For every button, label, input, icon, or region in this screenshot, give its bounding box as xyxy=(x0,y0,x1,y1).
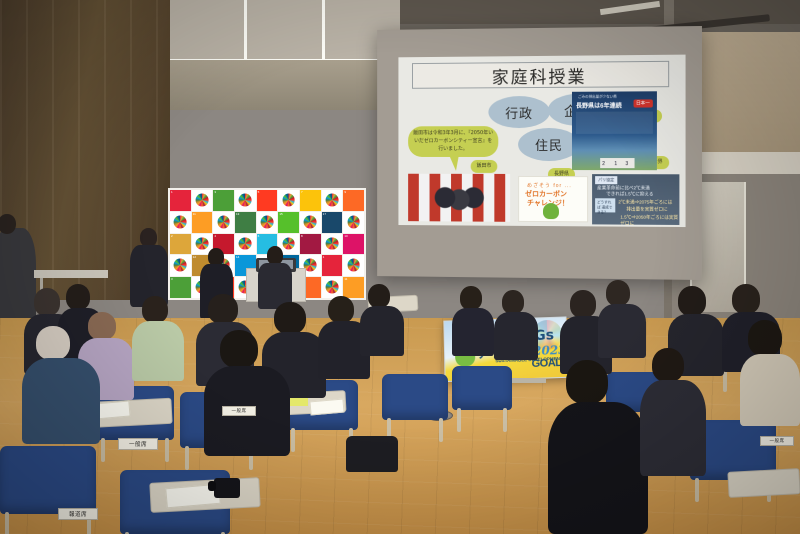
poster-zc-mascot xyxy=(543,203,559,219)
podium-rank-2: 2 xyxy=(602,161,605,167)
sdg-goal-number: 4 xyxy=(214,234,216,238)
sdg-wheel-icon xyxy=(192,190,213,211)
seat-placard-press: 報道席 xyxy=(58,508,98,520)
poster-nagano-badge: 日本一 xyxy=(633,99,653,107)
sdg-wheel-icon xyxy=(343,255,364,276)
sdg-wheel-icon xyxy=(235,234,256,255)
sdg-goal-number: 17 xyxy=(323,212,326,216)
sdg-goal-tile-10: 10 xyxy=(343,234,364,255)
sdg-goal-number: 12 xyxy=(193,255,196,259)
sdg-goal-tile-2: 2 xyxy=(170,234,191,255)
sdg-goal-tile-3: 3 xyxy=(213,190,234,211)
podium-rank-1: 1 xyxy=(614,161,617,167)
camera-equipment xyxy=(214,478,240,498)
paris-line2: できれば1.5℃に抑える xyxy=(606,191,653,197)
poster-nagano-headline: 長野県は6年連続 xyxy=(576,101,622,110)
sdg-goal-number: 9 xyxy=(344,190,346,194)
sdg-wheel-icon xyxy=(322,234,343,255)
chair xyxy=(452,366,512,410)
sdg-goal-number: 13 xyxy=(236,212,239,216)
sdg-goal-tile-8: 8 xyxy=(300,234,321,255)
poster-nagano-podium: 2 1 3 xyxy=(600,158,634,168)
sdg-goal-tile-3: 3 xyxy=(170,277,191,298)
sdg-goal-number: 11 xyxy=(193,212,196,216)
side-table xyxy=(34,270,108,278)
slide-ceremony-photo xyxy=(408,174,510,222)
sdg-goal-tile-15: 15 xyxy=(278,212,299,233)
poster-nagano-subhead: ごみの排出量が少ない県 xyxy=(578,95,617,100)
sdg-wheel-icon xyxy=(213,212,234,233)
sdg-goal-number: 1 xyxy=(323,255,325,259)
sdg-goal-number: 8 xyxy=(301,234,303,238)
sdg-wheel-icon xyxy=(235,190,256,211)
projection-screen: 家庭科授業 行政 企業 住民 飯田市は令和3年3月に、『2050年いいだゼロカー… xyxy=(377,26,702,280)
sdg-goal-tile-7: 7 xyxy=(300,190,321,211)
paris-heading: パリ協定 xyxy=(595,176,617,184)
slide-title: 家庭科授業 xyxy=(492,62,587,88)
chair xyxy=(382,374,448,420)
sdg-goal-tile-1: 1 xyxy=(170,190,191,211)
sdg-goal-tile-11: 11 xyxy=(192,212,213,233)
slide-tag-iida: 飯田市 xyxy=(471,160,498,172)
paris-question: どうすれば 達成できる？ xyxy=(595,198,615,212)
seat-placard-general: 一般席 xyxy=(118,438,158,450)
sdg-wheel-icon xyxy=(170,255,191,276)
sdg-wheel-icon xyxy=(343,212,364,233)
chair xyxy=(0,446,96,514)
sdg-goal-number: 7 xyxy=(301,190,303,194)
sdg-goal-tile-9: 9 xyxy=(343,190,364,211)
sdg-goal-tile-1: 1 xyxy=(322,255,343,276)
sdg-goal-number: 14 xyxy=(236,255,239,259)
slide-speech-bubble: 飯田市は令和3年3月に、『2050年いいだゼロカーボンシティー宣言』を行いました… xyxy=(408,126,498,157)
podium-rank-3: 3 xyxy=(625,161,628,167)
sdg-goal-number: 15 xyxy=(279,212,282,216)
sdg-goal-number: 10 xyxy=(344,234,347,238)
sdg-goal-tile-11: 11 xyxy=(343,277,364,298)
bag xyxy=(346,436,398,472)
slide-ellipse-residents: 住民 xyxy=(518,128,580,161)
paris-target3: 1.5℃⇒2050年ごろには実質ゼロに xyxy=(620,214,679,224)
sdg-goal-number: 11 xyxy=(344,277,347,281)
paris-target2: 排出量を実質ゼロに xyxy=(626,206,667,212)
sdg-goal-number: 2 xyxy=(171,234,173,238)
slide-poster-nagano: ごみの排出量が少ない県 長野県は6年連続 日本一 2 1 3 xyxy=(572,91,657,170)
slide-poster-zero-carbon: めざそう for ... ゼロカーボン チャレンジ！ xyxy=(518,176,588,222)
slide-title-box: 家庭科授業 xyxy=(412,61,669,89)
seat-placard-general-2: 一般席 xyxy=(222,406,256,416)
chair-writing-tablet xyxy=(727,468,800,498)
sdg-wheel-icon xyxy=(300,212,321,233)
sdg-goal-tile-5: 5 xyxy=(257,190,278,211)
handout-paper xyxy=(309,399,344,416)
sdg-goal-number: 5 xyxy=(258,190,260,194)
window-band xyxy=(168,0,400,62)
sdg-goal-number: 3 xyxy=(214,190,216,194)
window-blind xyxy=(168,60,400,110)
poster-nagano-body xyxy=(576,112,653,134)
slide-ellipse-government: 行政 xyxy=(488,96,550,128)
slide-paris-agreement-panel: パリ協定 産業革命前に比べ2℃未満 できれば1.5℃に抑える どうすれば 達成で… xyxy=(592,174,679,225)
sdg-goal-number: 1 xyxy=(171,190,173,194)
sdg-goal-tile-13: 13 xyxy=(235,212,256,233)
conference-room-photo: 家庭科授業 行政 企業 住民 飯田市は令和3年3月に、『2050年いいだゼロカー… xyxy=(0,0,800,534)
sdg-goal-number: 6 xyxy=(258,234,260,238)
sdg-goal-number: 3 xyxy=(171,277,173,281)
seat-placard-general-3: 一般席 xyxy=(760,436,794,446)
sdg-wheel-icon xyxy=(170,212,191,233)
sdg-wheel-icon xyxy=(322,190,343,211)
paris-target1: 2℃未満⇒2075年ごろには xyxy=(618,199,672,205)
sdg-wheel-icon xyxy=(257,212,278,233)
sdg-wheel-icon xyxy=(278,190,299,211)
sdg-wheel-icon xyxy=(322,277,343,298)
sdg-goal-tile-17: 17 xyxy=(322,212,343,233)
presentation-slide: 家庭科授業 行政 企業 住民 飯田市は令和3年3月に、『2050年いいだゼロカー… xyxy=(398,55,685,227)
